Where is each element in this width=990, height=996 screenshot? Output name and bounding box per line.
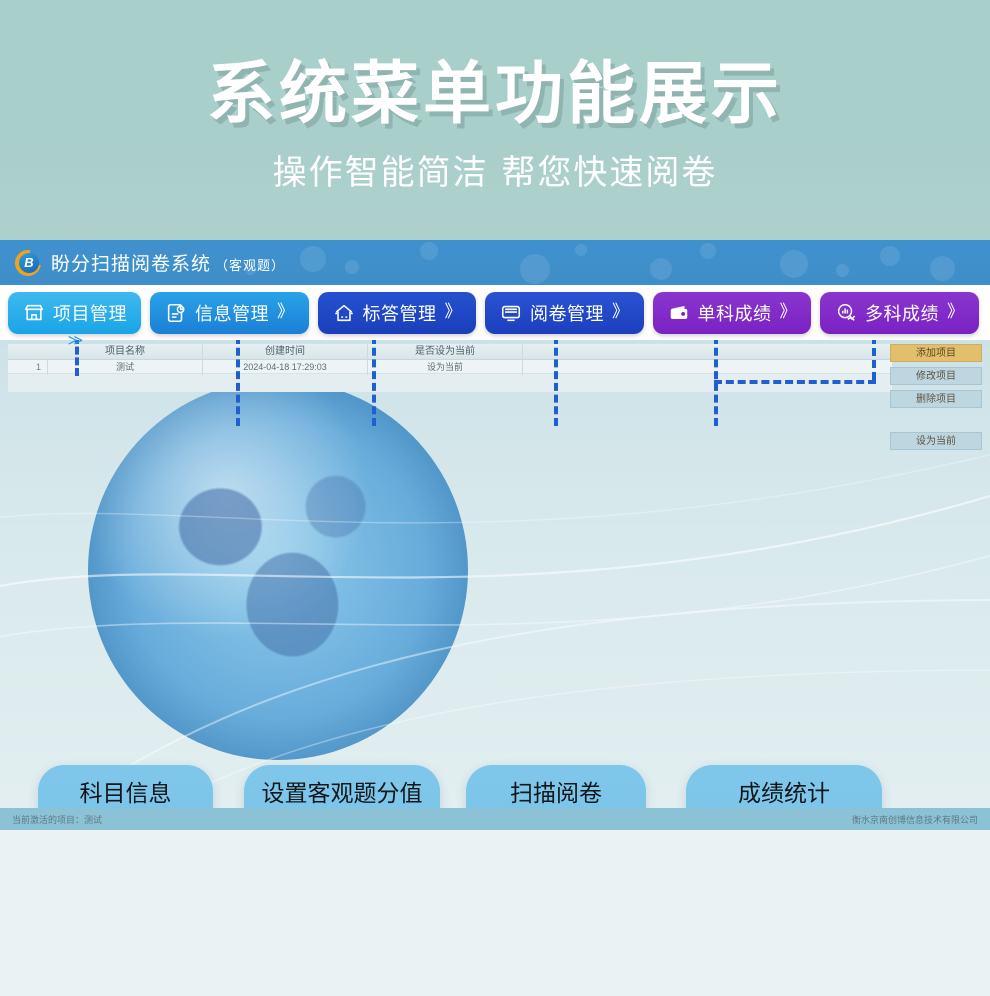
swoosh-lines-graphic xyxy=(0,340,990,830)
page-footer-spacer xyxy=(0,830,990,996)
column-header-created-time[interactable]: 创建时间 xyxy=(203,344,368,360)
workspace: 京南创博— 考试、测评服务 服务热线：4 项目名称 创建时间 是否设为当前 1 … xyxy=(0,340,990,830)
edit-project-button[interactable]: 修改项目 xyxy=(890,367,982,385)
monitor-icon xyxy=(499,302,523,324)
hero-subtitle: 操作智能简洁 帮您快速阅卷 xyxy=(0,145,990,194)
nav-label: 阅卷管理 xyxy=(530,300,604,326)
nav-button-single-subject-scores[interactable]: 单科成绩 》 xyxy=(653,292,812,334)
nav-button-answer-key-management[interactable]: 标答管理 》 xyxy=(318,292,477,334)
connector-line-6 xyxy=(872,340,876,380)
column-header-set-current[interactable]: 是否设为当前 xyxy=(368,344,523,360)
delete-project-button[interactable]: 删除项目 xyxy=(890,390,982,408)
action-button-panel: 添加项目 修改项目 删除项目 设为当前 xyxy=(890,344,982,450)
wallet-icon xyxy=(667,302,691,324)
status-active-project: 当前激活的项目：测试 xyxy=(12,813,102,826)
chevron-right-icon: 》 xyxy=(445,304,463,321)
callout-item[interactable]: 科目信息 xyxy=(46,783,205,806)
table-row[interactable]: 1 测试 2024-04-18 17:29:03 设为当前 xyxy=(8,360,892,374)
app-title-suffix: （客观题） xyxy=(215,259,285,274)
hero-banner: 系统菜单功能展示 操作智能简洁 帮您快速阅卷 xyxy=(0,0,990,240)
add-project-button[interactable]: 添加项目 xyxy=(890,344,982,362)
project-table: 项目名称 创建时间 是否设为当前 1 测试 2024-04-18 17:29:0… xyxy=(8,344,892,392)
main-navigation: 项目管理 ≫ 信息管理 》 xyxy=(0,285,990,340)
logo-letter: B xyxy=(19,253,39,273)
chevron-right-icon: 》 xyxy=(780,304,798,321)
nav-button-marking-management[interactable]: 阅卷管理 》 xyxy=(485,292,644,334)
set-current-button[interactable]: 设为当前 xyxy=(890,432,982,450)
connector-line-4 xyxy=(554,340,558,426)
nav-label: 标答管理 xyxy=(363,300,437,326)
chevron-right-icon: 》 xyxy=(947,304,965,321)
connector-line-3 xyxy=(372,340,376,426)
callout-item[interactable]: 设置客观题分值 xyxy=(252,783,432,806)
nav-button-info-management[interactable]: 信息管理 》 xyxy=(150,292,309,334)
app-titlebar: B 盼分扫描阅卷系统（客观题） xyxy=(0,240,990,285)
chevron-right-icon: 》 xyxy=(277,304,295,321)
nav-button-multi-subject-scores[interactable]: 多科成绩 》 xyxy=(820,292,979,334)
callout-item[interactable]: 扫描阅卷 xyxy=(474,783,638,806)
connector-line-2 xyxy=(236,340,240,426)
nav-label: 项目管理 xyxy=(53,300,127,326)
chevron-right-icon: 》 xyxy=(612,304,630,321)
nav-label: 信息管理 xyxy=(195,300,269,326)
status-company-name: 衡水京南创博信息技术有限公司 xyxy=(852,813,978,826)
connector-bracket xyxy=(714,380,876,384)
chevron-down-icon: ≫ xyxy=(68,333,82,348)
home-icon xyxy=(332,302,356,324)
nav-label: 多科成绩 xyxy=(865,300,939,326)
status-bar: 当前激活的项目：测试 衡水京南创博信息技术有限公司 xyxy=(0,808,990,830)
hero-title: 系统菜单功能展示 xyxy=(0,38,990,137)
chart-search-icon xyxy=(834,302,858,324)
cell-project-name: 测试 xyxy=(48,359,203,375)
app-title-text: 盼分扫描阅卷系统 xyxy=(51,253,211,275)
row-index: 1 xyxy=(8,359,48,375)
nav-button-project-management[interactable]: 项目管理 ≫ xyxy=(8,292,141,334)
shop-icon xyxy=(22,302,46,324)
app-title: 盼分扫描阅卷系统（客观题） xyxy=(51,249,285,276)
callout-item[interactable]: 成绩统计 xyxy=(694,783,874,806)
nav-label: 单科成绩 xyxy=(698,300,772,326)
cell-set-current[interactable]: 设为当前 xyxy=(368,359,523,375)
app-logo-icon: B xyxy=(14,249,42,277)
application-window: B 盼分扫描阅卷系统（客观题） 项目管理 ≫ xyxy=(0,240,990,830)
document-chart-icon xyxy=(164,302,188,324)
cell-created-time: 2024-04-18 17:29:03 xyxy=(203,359,368,375)
